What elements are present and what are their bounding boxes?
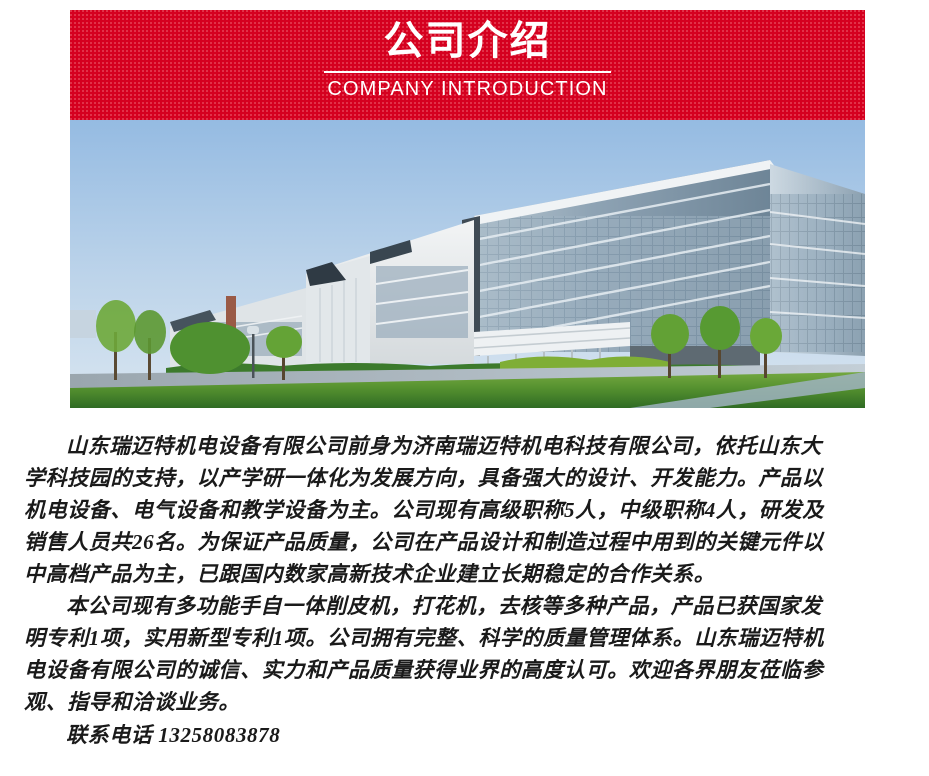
- company-building-photo: [70, 120, 865, 408]
- paragraph-2: 本公司现有多功能手自一体削皮机，打花机，去核等多种产品，产品已获国家发 明专利1…: [24, 590, 909, 718]
- text-line: 销售人员共26名。为保证产品质量，公司在产品设计和制造过程中用到的关键元件以: [24, 526, 909, 558]
- text-line: 观、指导和洽谈业务。: [24, 686, 909, 718]
- title-divider: [324, 71, 611, 73]
- text-line: 山东瑞迈特机电设备有限公司前身为济南瑞迈特机电科技有限公司，依托山东大: [24, 430, 909, 462]
- text-line: 本公司现有多功能手自一体削皮机，打花机，去核等多种产品，产品已获国家发: [24, 590, 909, 622]
- text-line: 学科技园的支持，以产学研一体化为发展方向，具备强大的设计、开发能力。产品以: [24, 462, 909, 494]
- text-line: 中高档产品为主，已跟国内数家高新技术企业建立长期稳定的合作关系。: [24, 558, 909, 590]
- text-line: 明专利1项，实用新型专利1项。公司拥有完整、科学的质量管理体系。山东瑞迈特机: [24, 622, 909, 654]
- paragraph-1: 山东瑞迈特机电设备有限公司前身为济南瑞迈特机电科技有限公司，依托山东大 学科技园…: [24, 430, 909, 590]
- text-line: 机电设备、电气设备和教学设备为主。公司现有高级职称5人，中级职称4人，研发及: [24, 494, 909, 526]
- page-title-chinese: 公司介绍: [384, 13, 552, 69]
- building-illustration: [70, 120, 865, 408]
- company-introduction-page: 公司介绍 COMPANY INTRODUCTION: [0, 0, 929, 776]
- page-header-banner: 公司介绍 COMPANY INTRODUCTION: [70, 10, 865, 120]
- contact-phone: 联系电话 13258083878: [24, 718, 909, 752]
- page-title-english: COMPANY INTRODUCTION: [327, 77, 607, 101]
- text-line: 电设备有限公司的诚信、实力和产品质量获得业界的高度认可。欢迎各界朋友莅临参: [24, 654, 909, 686]
- company-description: 山东瑞迈特机电设备有限公司前身为济南瑞迈特机电科技有限公司，依托山东大 学科技园…: [24, 430, 909, 752]
